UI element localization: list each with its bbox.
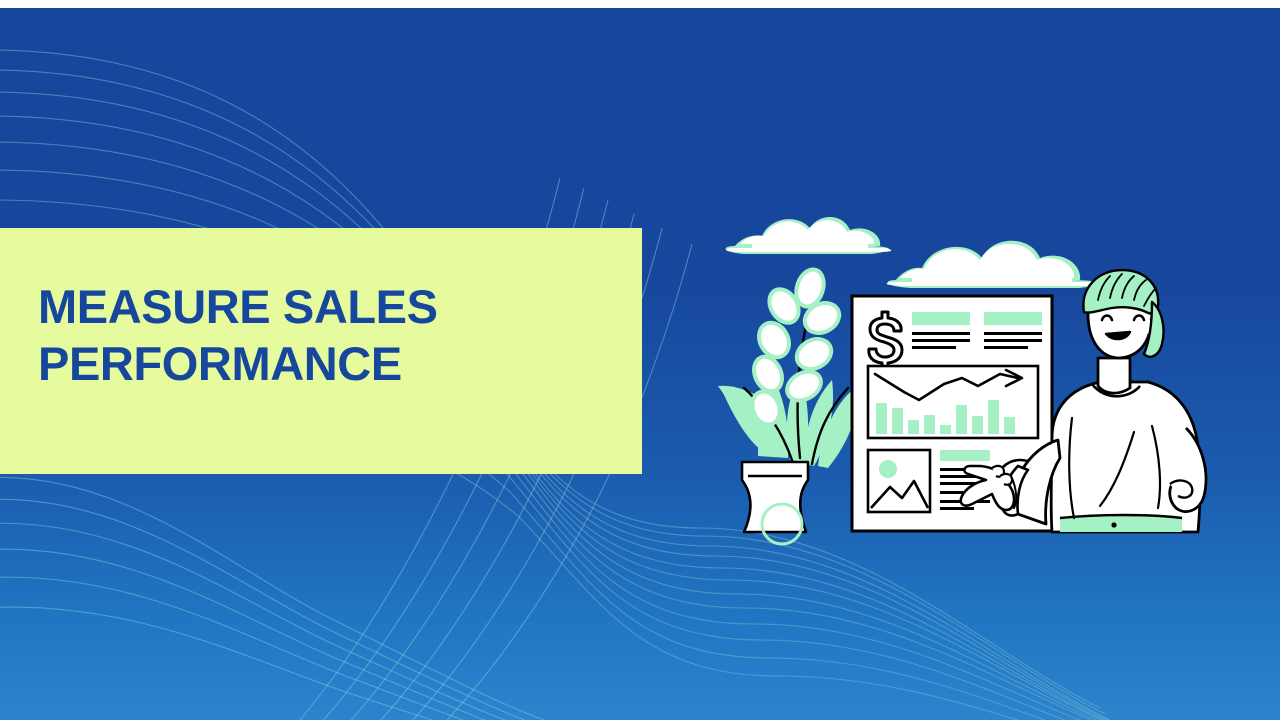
header-highlight-1 bbox=[912, 312, 970, 325]
slide-background: MEASURE SALES PERFORMANCE bbox=[0, 8, 1280, 720]
cloud-right-icon bbox=[887, 241, 1100, 288]
bar-chart bbox=[868, 366, 1038, 438]
illustration-svg bbox=[700, 188, 1240, 548]
title-card: MEASURE SALES PERFORMANCE bbox=[0, 228, 642, 474]
cloud-left-icon bbox=[726, 217, 892, 254]
slide-root: MEASURE SALES PERFORMANCE bbox=[0, 0, 1280, 720]
sales-performance-illustration bbox=[700, 188, 1240, 548]
image-placeholder-icon bbox=[868, 450, 930, 512]
page-title: MEASURE SALES PERFORMANCE bbox=[38, 278, 618, 393]
header-highlight-2 bbox=[984, 312, 1042, 325]
potted-plant-icon bbox=[718, 266, 860, 544]
